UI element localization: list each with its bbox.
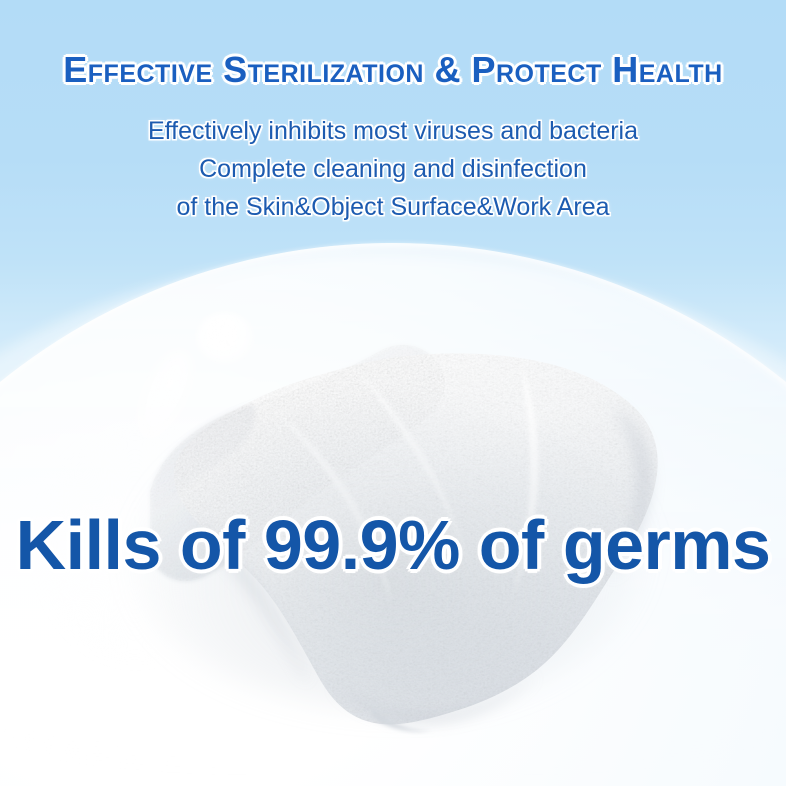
page-title: Effective Sterilization & Protect Health (0, 49, 786, 91)
bubble-highlight-dot-icon (196, 312, 254, 364)
hero-headline: Kills of 99.9% of germs (0, 505, 786, 585)
subtitle-line-1: Effectively inhibits most viruses and ba… (0, 112, 786, 150)
subtitle-line-2: Complete cleaning and disinfection (0, 150, 786, 188)
subtitle-block: Effectively inhibits most viruses and ba… (0, 112, 786, 226)
product-promo-poster: Effective Sterilization & Protect Health… (0, 0, 786, 786)
subtitle-line-3: of the Skin&Object Surface&Work Area (0, 188, 786, 226)
